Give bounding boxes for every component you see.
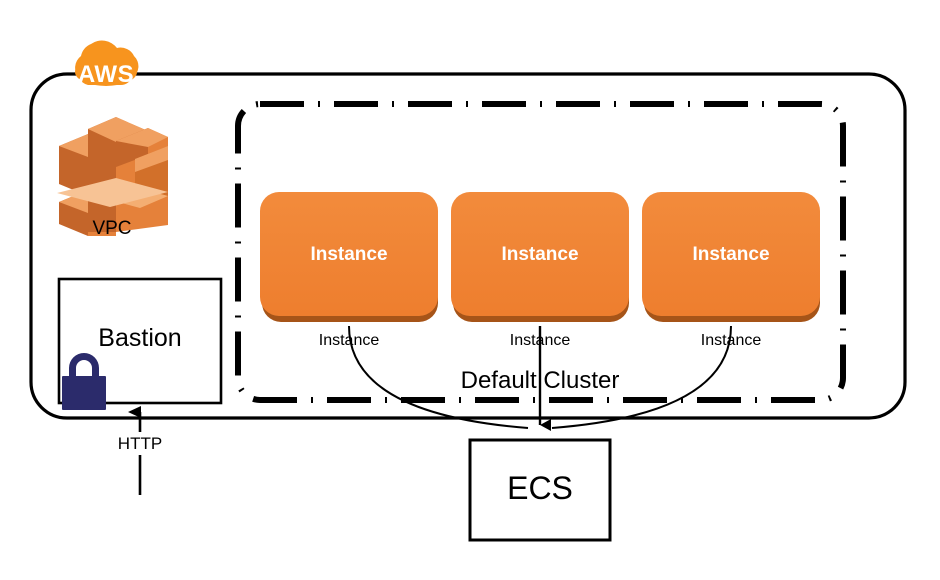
- instance-title-2: Instance: [501, 244, 578, 265]
- bastion-label: Bastion: [98, 324, 181, 352]
- architecture-diagram: AWS VPC Bastion: [0, 0, 940, 580]
- aws-cloud-label: AWS: [78, 61, 134, 88]
- vpc-label: VPC: [92, 218, 131, 239]
- instance-title-1: Instance: [310, 244, 387, 265]
- http-label: HTTP: [118, 434, 162, 453]
- instance-title-3: Instance: [692, 244, 769, 265]
- diagram-canvas: AWS VPC Bastion: [0, 0, 940, 580]
- ecs-label: ECS: [507, 470, 573, 506]
